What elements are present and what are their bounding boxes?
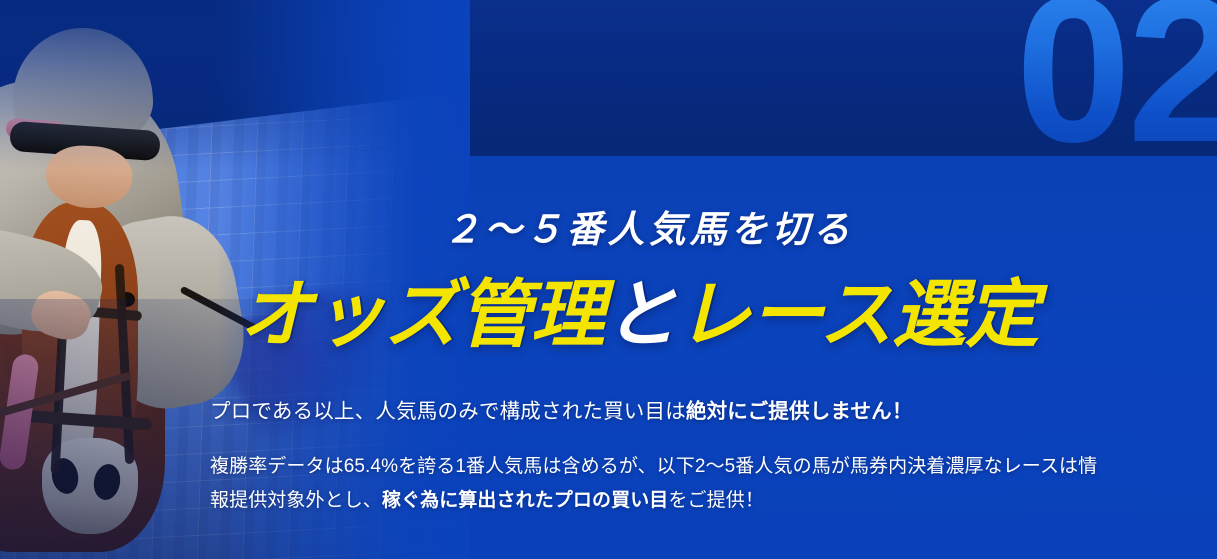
lead-statement: プロである以上、人気馬のみで構成された買い目は絶対にご提供しません！ xyxy=(210,394,913,424)
headline-part-3: レース選定 xyxy=(677,273,1038,356)
paragraph-text-b: をご提供！ xyxy=(668,490,764,511)
lead-emphasis-text: 絶対にご提供しません！ xyxy=(686,400,913,423)
paragraph-emphasis: 稼ぐ為に算出されたプロの買い目 xyxy=(382,490,669,511)
headline-subtitle: ２〜５番人気馬を切る xyxy=(0,210,1217,251)
description-paragraph: 複勝率データは65.4%を誇る1番人気馬は含めるが、以下2〜5番人気の馬が馬券内… xyxy=(210,450,1110,518)
headline-main: オッズ管理とレース選定 xyxy=(0,276,1217,354)
headline-part-2: と xyxy=(604,273,677,356)
banner-content: ２〜５番人気馬を切る オッズ管理とレース選定 プロである以上、人気馬のみで構成さ… xyxy=(0,0,1217,559)
lead-normal-text: プロである以上、人気馬のみで構成された買い目は xyxy=(210,400,686,423)
promo-banner: 02 ２〜５番人気馬を切る オッズ管理とレース選定 プロである以上、人気馬のみで… xyxy=(0,0,1217,559)
headline-part-1: オッズ管理 xyxy=(239,273,604,356)
